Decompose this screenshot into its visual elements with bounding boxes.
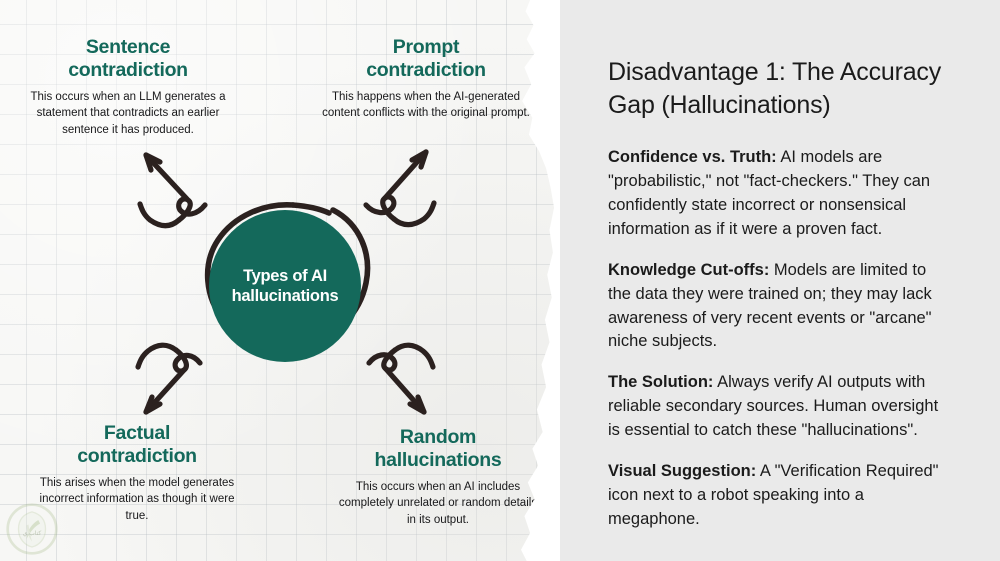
node-prompt-title: Prompt contradiction	[320, 36, 532, 82]
paragraph-lead: The Solution:	[608, 373, 713, 391]
paragraph-lead: Confidence vs. Truth:	[608, 148, 777, 166]
node-random-hallucinations: Random hallucinations This occurs when a…	[334, 426, 542, 528]
center-disc: Types of AI hallucinations	[209, 210, 361, 362]
panel-title: Disadvantage 1: The Accuracy Gap (Halluc…	[608, 56, 948, 122]
paragraph-lead: Visual Suggestion:	[608, 462, 756, 480]
node-random-title: Random hallucinations	[334, 426, 542, 472]
paragraph-confidence-vs-truth: Confidence vs. Truth: AI models are "pro…	[608, 146, 944, 242]
slide-canvas: Types of AI hallucinations Sentence cont…	[0, 0, 1000, 561]
paragraph-the-solution: The Solution: Always verify AI outputs w…	[608, 371, 944, 443]
paragraph-lead: Knowledge Cut-offs:	[608, 261, 769, 279]
watermark-logo-icon	[5, 502, 59, 556]
arrow-to-random-icon	[369, 345, 433, 412]
explanation-panel: Disadvantage 1: The Accuracy Gap (Halluc…	[560, 0, 1000, 561]
center-node: Types of AI hallucinations	[194, 196, 378, 376]
center-label: Types of AI hallucinations	[232, 266, 339, 306]
infographic-panel: Types of AI hallucinations Sentence cont…	[0, 0, 570, 561]
node-random-desc: This occurs when an AI includes complete…	[334, 479, 542, 528]
node-prompt-desc: This happens when the AI-generated conte…	[320, 89, 532, 122]
node-sentence-contradiction: Sentence contradiction This occurs when …	[18, 36, 238, 138]
watermark-caption: كتاب ي	[5, 530, 59, 537]
node-sentence-title: Sentence contradiction	[18, 36, 238, 82]
node-factual-contradiction: Factual contradiction This arises when t…	[28, 422, 246, 524]
paragraph-knowledge-cut-offs: Knowledge Cut-offs: Models are limited t…	[608, 259, 944, 355]
node-sentence-desc: This occurs when an LLM generates a stat…	[18, 89, 238, 138]
node-prompt-contradiction: Prompt contradiction This happens when t…	[320, 36, 532, 122]
node-factual-title: Factual contradiction	[28, 422, 246, 468]
paragraph-visual-suggestion: Visual Suggestion: A "Verification Requi…	[608, 460, 944, 532]
node-factual-desc: This arises when the model generates inc…	[28, 475, 246, 524]
arrow-to-factual-icon	[138, 345, 200, 412]
